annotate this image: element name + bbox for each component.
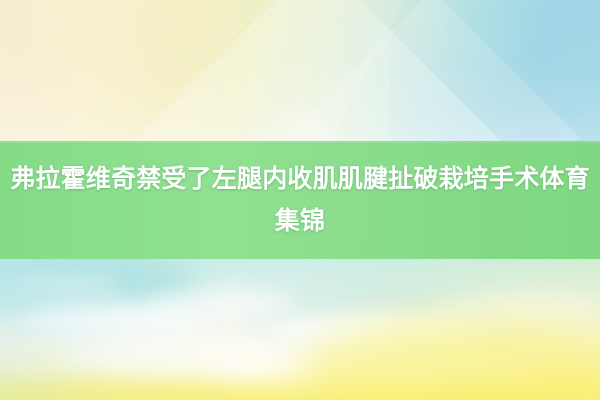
headline-text: 弗拉霍维奇禁受了左腿内收肌肌腱扯破栽培手术体育集锦 (0, 158, 600, 242)
band-top-highlight (0, 141, 600, 143)
banner-image: 弗拉霍维奇禁受了左腿内收肌肌腱扯破栽培手术体育集锦 (0, 0, 600, 400)
bottom-decoration-panel (0, 259, 600, 400)
headline-band: 弗拉霍维奇禁受了左腿内收肌肌腱扯破栽培手术体育集锦 (0, 141, 600, 259)
top-decoration-panel (0, 0, 600, 141)
top-fade-overlay (0, 0, 600, 141)
